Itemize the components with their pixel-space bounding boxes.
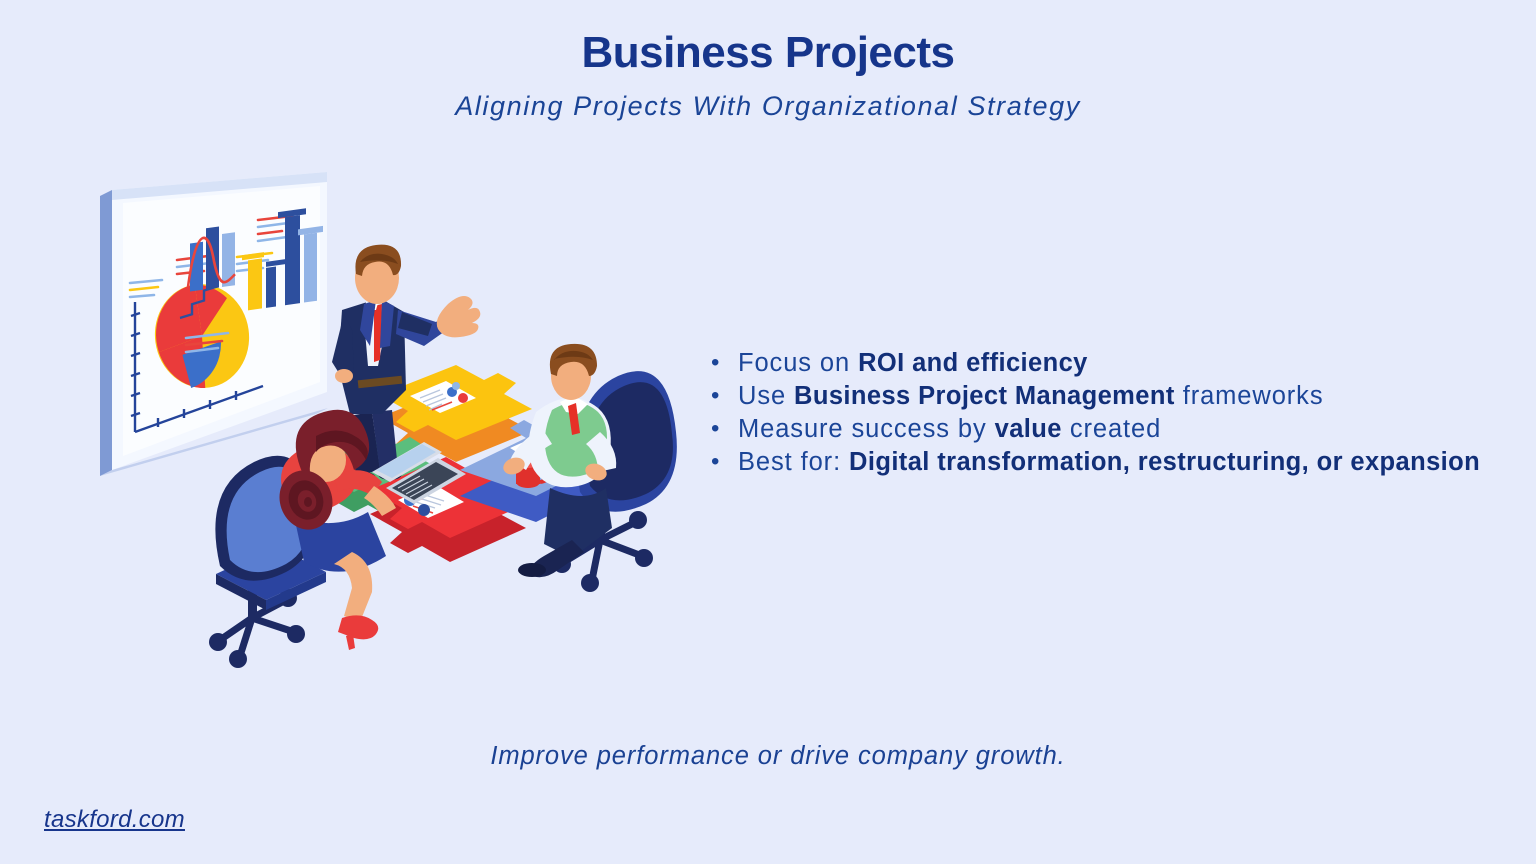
open-hand <box>437 296 481 337</box>
business-team-illustration <box>80 170 700 690</box>
page-subtitle: Aligning Projects With Organizational St… <box>0 92 1536 122</box>
bullet-text-2: Measure success by value created <box>738 415 1161 443</box>
bullet-text-3: Best for: Digital transformation, restru… <box>738 448 1480 476</box>
slide-canvas: Business Projects Aligning Projects With… <box>0 0 1536 864</box>
bullet-best-for: Best for: Digital transformation, restru… <box>700 446 1536 479</box>
bullet-value: Measure success by value created <box>700 413 1536 446</box>
footer-website-link[interactable]: taskford.com <box>44 806 185 834</box>
presentation-board <box>100 172 328 476</box>
bullet-text-1: Use Business Project Management framewor… <box>738 382 1323 410</box>
key-points-list: Focus on ROI and efficiency Use Business… <box>700 347 1536 479</box>
bullet-text-0: Focus on ROI and efficiency <box>738 349 1088 377</box>
bullet-frameworks: Use Business Project Management framewor… <box>700 380 1536 413</box>
header: Business Projects Aligning Projects With… <box>0 0 1536 122</box>
red-high-heel <box>338 615 378 650</box>
tagline: Improve performance or drive company gro… <box>0 742 1536 771</box>
bullet-roi: Focus on ROI and efficiency <box>700 347 1536 380</box>
page-title: Business Projects <box>0 30 1536 76</box>
